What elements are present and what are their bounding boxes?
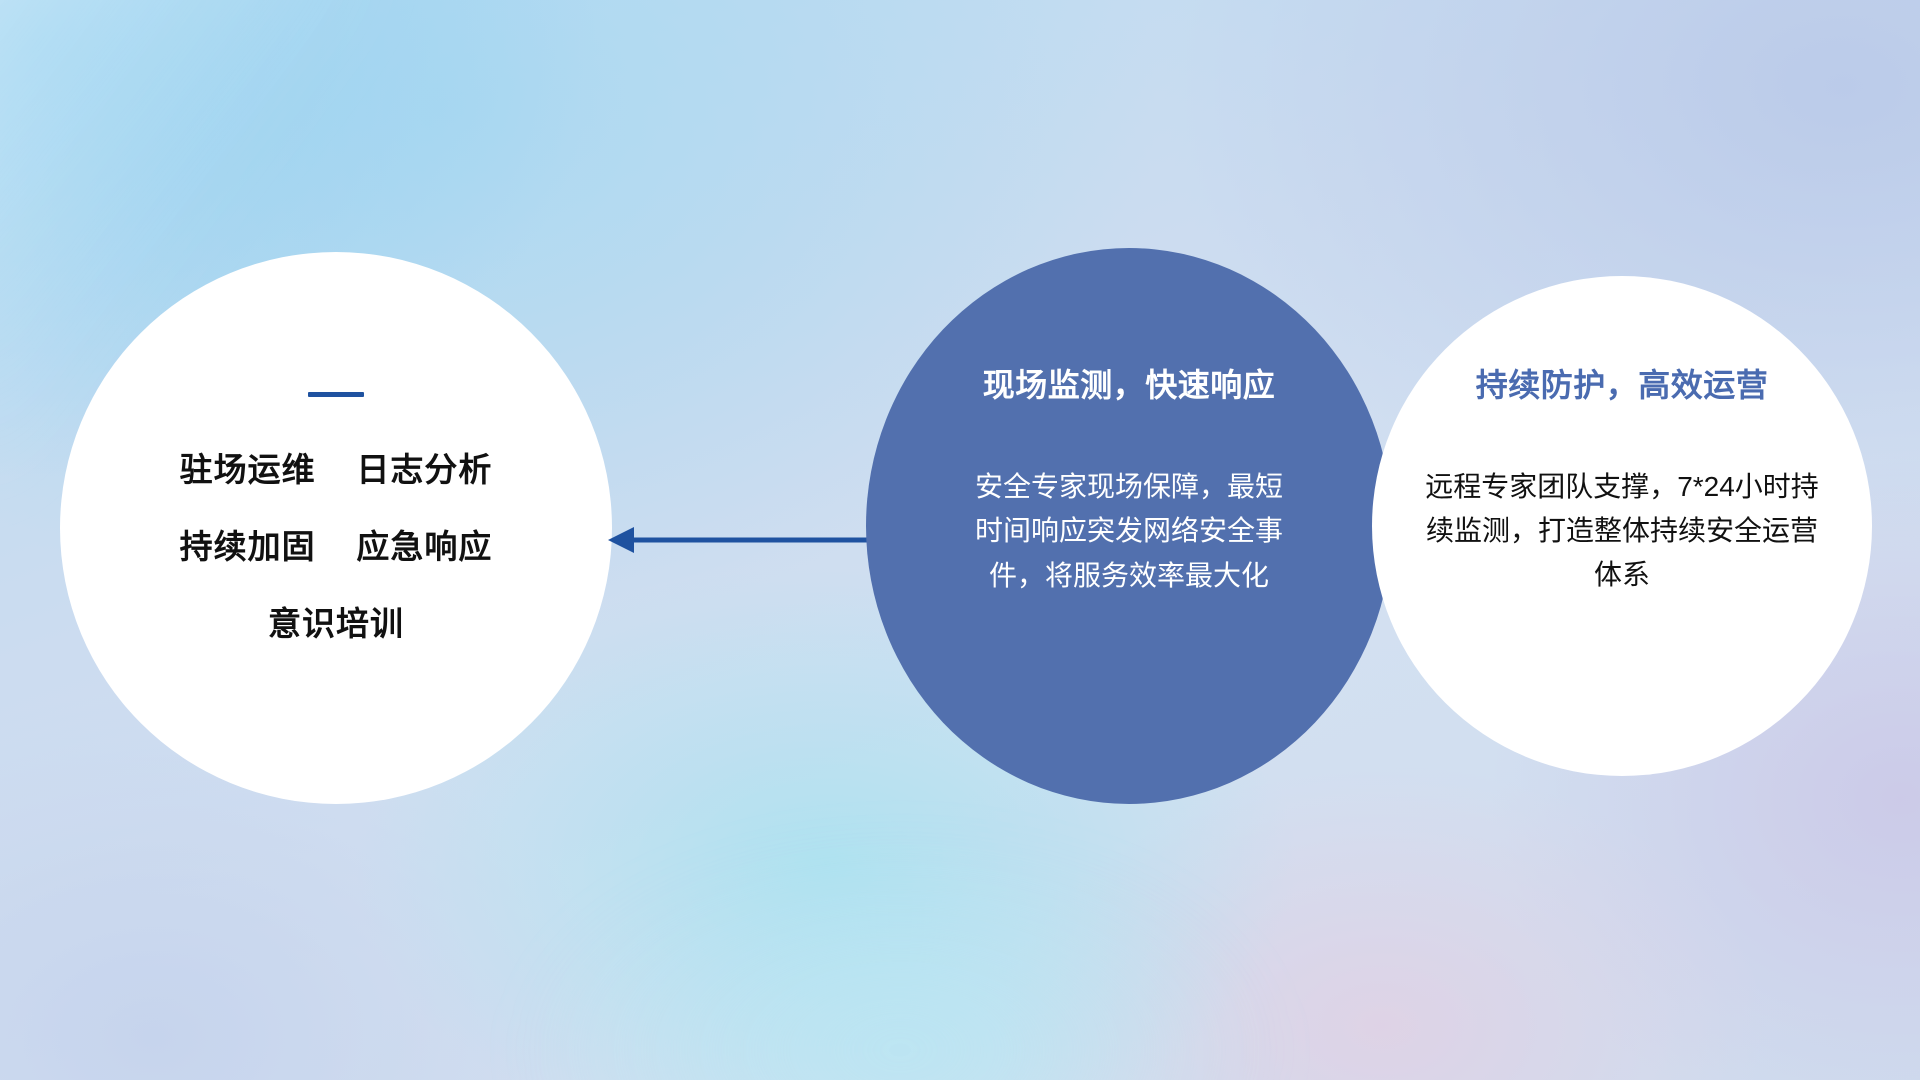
background-glow-bottom <box>520 840 1280 1080</box>
right-circle-title: 持续防护，高效运营 <box>1476 368 1769 403</box>
left-circle-line-2: 持续加固 应急响应 <box>180 530 493 563</box>
accent-dash-icon <box>308 392 364 397</box>
middle-service-circle[interactable]: 现场监测，快速响应 安全专家现场保障，最短时间响应突发网络安全事件，将服务效率最… <box>866 248 1392 804</box>
left-circle-line-3: 意识培训 <box>268 607 404 640</box>
middle-circle-title: 现场监测，快速响应 <box>983 368 1276 403</box>
left-outcome-circle[interactable]: 驻场运维 日志分析 持续加固 应急响应 意识培训 <box>60 252 612 804</box>
flow-arrow-left-icon <box>604 516 880 564</box>
right-circle-body: 远程专家团队支撑，7*24小时持续监测，打造整体持续安全运营体系 <box>1417 465 1827 596</box>
left-circle-line-1: 驻场运维 日志分析 <box>180 453 493 486</box>
right-service-circle[interactable]: 持续防护，高效运营 远程专家团队支撑，7*24小时持续监测，打造整体持续安全运营… <box>1372 276 1872 776</box>
slide-canvas: 驻场运维 日志分析 持续加固 应急响应 意识培训 现场监测，快速响应 安全专家现… <box>0 0 1920 1080</box>
middle-circle-body: 安全专家现场保障，最短时间响应突发网络安全事件，将服务效率最大化 <box>974 465 1284 598</box>
